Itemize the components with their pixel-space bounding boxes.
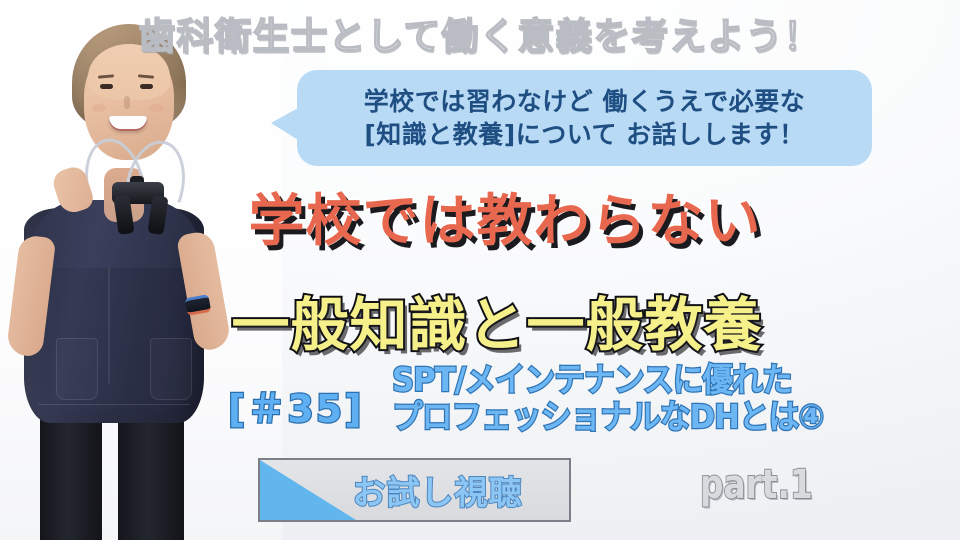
speech-bubble-line-2: [知識と教養]について お話しします！	[364, 119, 804, 150]
series-subtitle-line-1: SPT/メインテナンスに優れた	[392, 362, 823, 399]
part-label: part.1	[700, 462, 813, 508]
series-subtitle-line-2: プロフェッショナルなDHとは④	[392, 399, 823, 436]
presenter-photo	[0, 0, 282, 540]
headline-yellow: 一般知識と一般教養	[0, 278, 960, 362]
nose	[124, 96, 130, 109]
cheek-left	[92, 104, 106, 112]
headline-red: 学校では教わらない	[0, 176, 960, 257]
trial-viewing-label: お試し視聴	[260, 460, 569, 520]
youtube-thumbnail: 歯科衛生士として働く意義を考えよう！ 学校では習わなけど 働くうえで必要な [知…	[0, 0, 960, 540]
episode-number: [＃35]	[228, 378, 364, 433]
series-subtitle: SPT/メインテナンスに優れた プロフェッショナルなDHとは④	[392, 362, 856, 436]
smiling-mouth	[109, 116, 147, 131]
speech-bubble: 学校では習わなけど 働くうえで必要な [知識と教養]について お話しします！	[297, 70, 872, 166]
trial-viewing-badge: お試し視聴	[258, 458, 571, 522]
eye-right	[140, 84, 153, 89]
cheek-right	[150, 104, 164, 112]
headline-top: 歯科衛生士として働く意義を考えよう！	[0, 6, 960, 60]
eye-left	[100, 84, 113, 89]
speech-bubble-line-1: 学校では習わなけど 働くうえで必要な	[364, 86, 805, 117]
tunic-hem	[38, 404, 190, 405]
